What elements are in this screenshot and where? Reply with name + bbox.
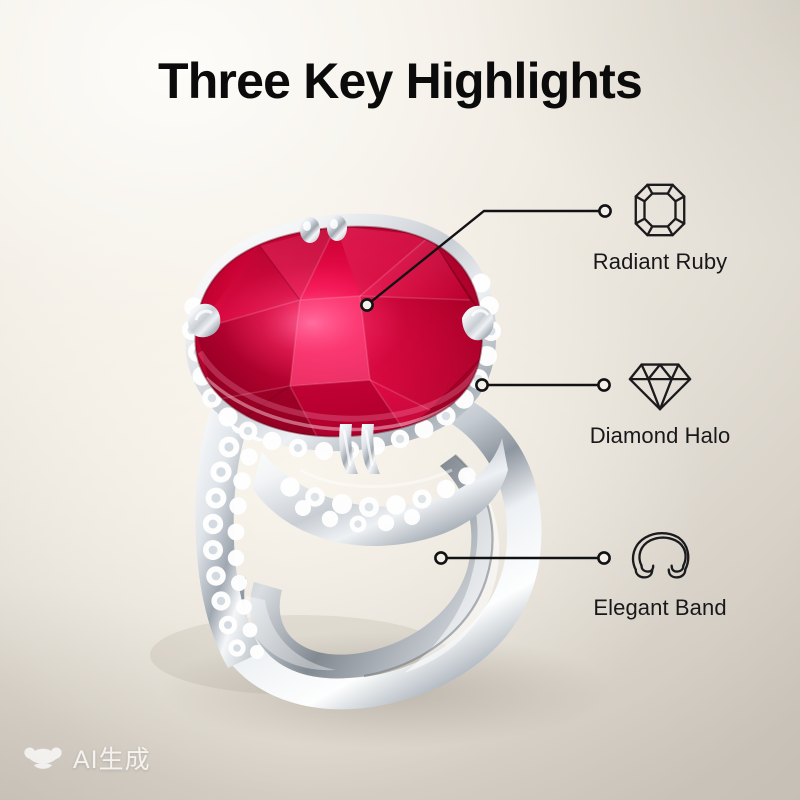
ai-watermark: AI生成: [22, 740, 151, 776]
page-title: Three Key Highlights: [0, 56, 800, 106]
brilliant-diamond-icon: [555, 352, 765, 416]
callout-radiant-ruby[interactable]: Radiant Ruby: [555, 178, 765, 275]
callout-label-diamond-halo: Diamond Halo: [555, 423, 765, 449]
infographic-canvas: Three Key Highlights Radiant Ruby: [0, 0, 800, 800]
watermark-label: AI生成: [73, 740, 151, 776]
callout-label-elegant-band: Elegant Band: [555, 595, 765, 621]
emerald-cut-gem-icon: [555, 178, 765, 242]
ring-band-icon: [555, 524, 765, 588]
callout-diamond-halo[interactable]: Diamond Halo: [555, 352, 765, 449]
callout-label-radiant-ruby: Radiant Ruby: [555, 249, 765, 275]
callout-elegant-band[interactable]: Elegant Band: [555, 524, 765, 621]
doubao-logo-icon: [22, 743, 64, 773]
